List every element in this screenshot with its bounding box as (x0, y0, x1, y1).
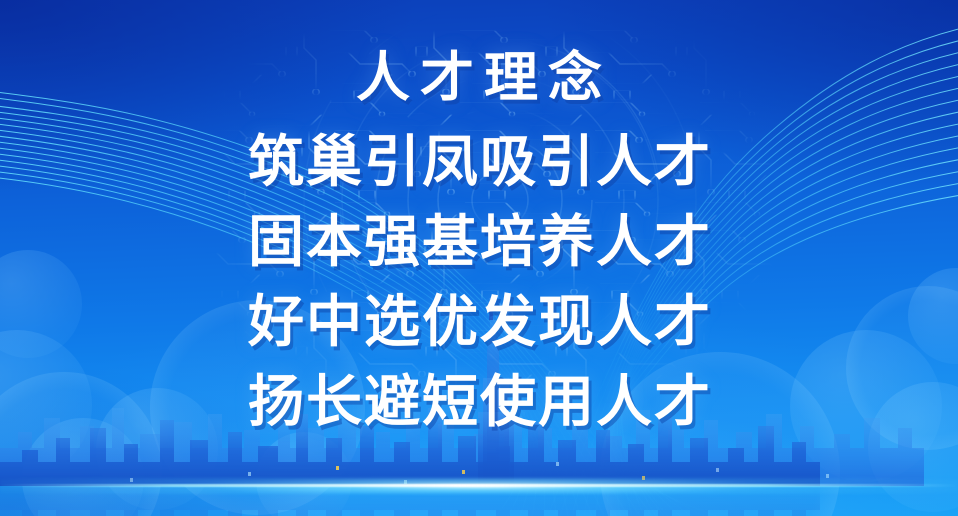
slogan-line-2: 固本强基培养人才 (0, 202, 958, 282)
slogan-line-1: 筑巢引凤吸引人才 (0, 122, 958, 202)
horizon-light-streak (0, 484, 958, 487)
slogan-line-4: 扬长避短使用人才 (0, 362, 958, 442)
page-title: 人才理念 (0, 0, 958, 108)
slogan-list: 筑巢引凤吸引人才 固本强基培养人才 好中选优发现人才 扬长避短使用人才 (0, 108, 958, 442)
poster-content: 人才理念 筑巢引凤吸引人才 固本强基培养人才 好中选优发现人才 扬长避短使用人才 (0, 0, 958, 442)
poster-canvas: 人才理念 筑巢引凤吸引人才 固本强基培养人才 好中选优发现人才 扬长避短使用人才 (0, 0, 958, 516)
slogan-line-3: 好中选优发现人才 (0, 282, 958, 362)
